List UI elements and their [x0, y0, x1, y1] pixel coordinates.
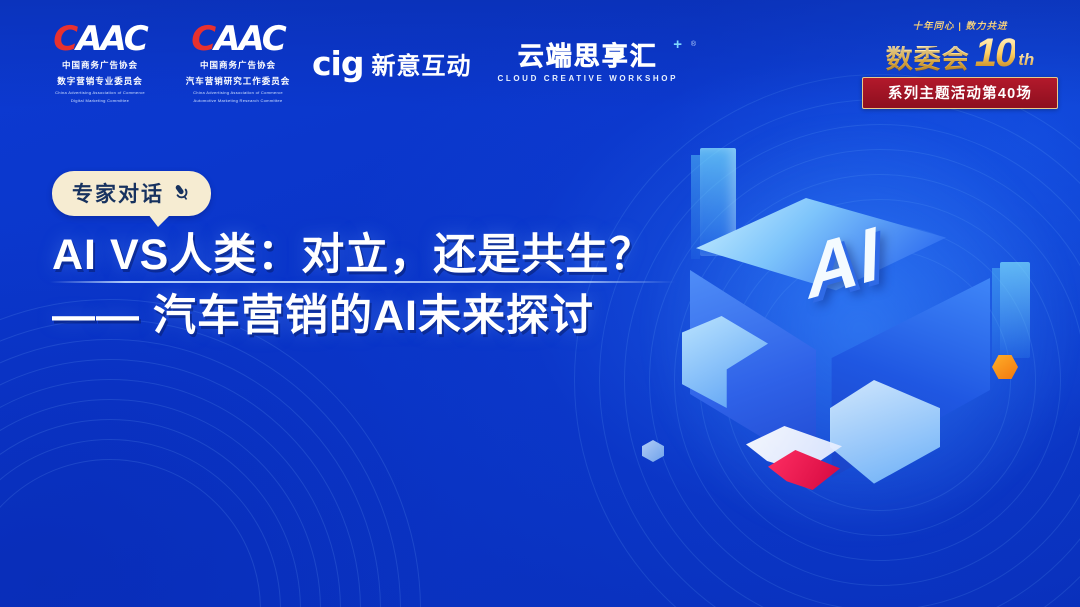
anniversary-badge: 十年同心 | 数力共进 数委会 10 th 系列主题活动第40场	[862, 18, 1058, 109]
caac-mark-white-2: AAC	[214, 19, 285, 59]
title-light-streak	[50, 281, 675, 283]
logo-en-line2: Digital Marketing Committee	[46, 98, 154, 104]
logo-cig: cig 新意互动	[312, 46, 472, 81]
logo2-cn-line1: 中国商务广告协会	[182, 59, 294, 72]
cig-cn-name: 新意互动	[372, 46, 472, 81]
badge-ten: 10	[975, 33, 1016, 73]
badge-th: th	[1018, 51, 1034, 68]
pill-label: 专家对话	[72, 178, 164, 208]
logo-en-line1: China Advertising Association of Commerc…	[46, 90, 154, 96]
cyan-bar-right-icon	[1000, 262, 1030, 358]
logo2-en-line1: China Advertising Association of Commerc…	[184, 90, 292, 96]
badge-main-text: 数委会	[886, 46, 970, 73]
logo-cn-line1: 中国商务广告协会	[44, 59, 156, 72]
caac-wordmark-2: CAAC	[182, 22, 294, 56]
logo2-en-line2: Automotive Marketing Research Committee	[184, 98, 292, 104]
cig-wordmark: cig	[312, 47, 364, 80]
pill: 专家对话	[52, 171, 211, 216]
microphone-icon	[171, 182, 193, 204]
expert-dialogue-badge: 专家对话	[52, 171, 211, 216]
badge-tagline: 十年同心 | 数力共进	[862, 18, 1058, 32]
badge-ribbon: 系列主题活动第40场	[862, 77, 1058, 109]
cube-ai-letters: AI	[800, 215, 887, 310]
badge-main-row: 数委会 10 th	[862, 33, 1058, 73]
registered-icon: ®	[691, 41, 696, 48]
caac-mark-red: C	[53, 19, 76, 59]
logo-cloud-creative-workshop: 云端思享汇 + ® CLOUD CREATIVE WORKSHOP	[498, 43, 679, 83]
header: CAAC 中国商务广告协会 数字营销专业委员会 China Advertisin…	[0, 0, 1080, 108]
cloud-en-name: CLOUD CREATIVE WORKSHOP	[498, 74, 679, 83]
ai-cube-illustration: AI	[640, 150, 1060, 550]
caac-mark-white: AAC	[76, 19, 147, 59]
logo-cn-line2: 数字营销专业委员会	[44, 75, 156, 88]
cloud-cn-name: 云端思享汇	[498, 43, 679, 69]
banner-stage: CAAC 中国商务广告协会 数字营销专业委员会 China Advertisin…	[0, 0, 1080, 607]
caac-wordmark: CAAC	[44, 22, 156, 56]
plus-icon: +	[673, 36, 682, 53]
logo2-cn-line2: 汽车营销研究工作委员会	[182, 75, 294, 88]
caac-mark-red-2: C	[191, 19, 214, 59]
partner-logos: CAAC 中国商务广告协会 数字营销专业委员会 China Advertisin…	[44, 22, 678, 104]
logo-caac-digital-marketing: CAAC 中国商务广告协会 数字营销专业委员会 China Advertisin…	[44, 22, 156, 104]
small-chip-icon	[642, 440, 664, 462]
cube: AI	[682, 198, 982, 488]
logo-caac-automotive-marketing: CAAC 中国商务广告协会 汽车营销研究工作委员会 China Advertis…	[182, 22, 294, 104]
